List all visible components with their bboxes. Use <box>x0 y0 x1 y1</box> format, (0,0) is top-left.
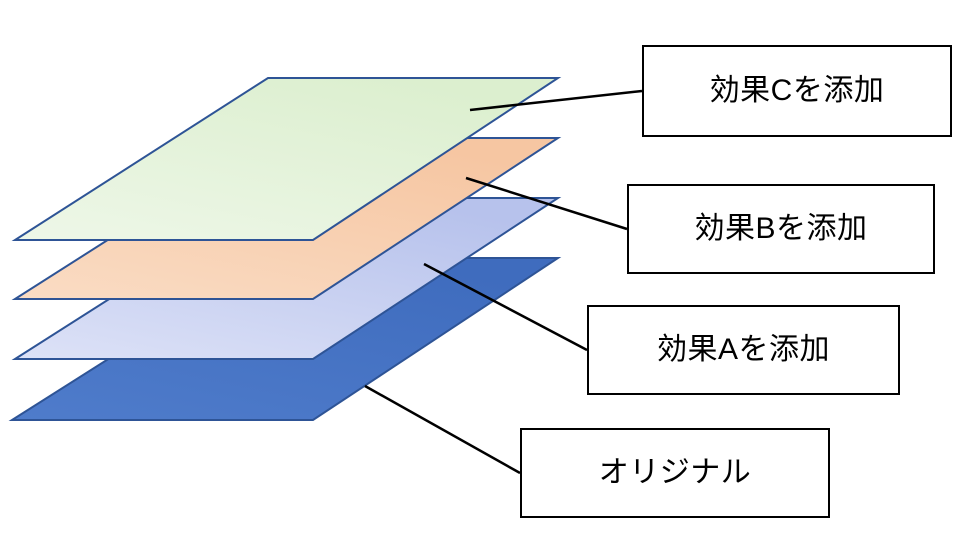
label-effect-b[interactable]: 効果Bを添加 <box>627 184 935 274</box>
label-original[interactable]: オリジナル <box>520 428 830 518</box>
label-effect-c[interactable]: 効果Cを添加 <box>642 45 952 137</box>
diagram-canvas: 効果Cを添加 効果Bを添加 効果Aを添加 オリジナル <box>0 0 964 554</box>
leader-line-original <box>365 386 520 473</box>
label-effect-a[interactable]: 効果Aを添加 <box>587 305 900 395</box>
label-effect-b-text: 効果Bを添加 <box>694 211 867 247</box>
label-effect-a-text: 効果Aを添加 <box>657 332 830 368</box>
label-original-text: オリジナル <box>599 455 752 491</box>
label-effect-c-text: 効果Cを添加 <box>710 73 885 109</box>
